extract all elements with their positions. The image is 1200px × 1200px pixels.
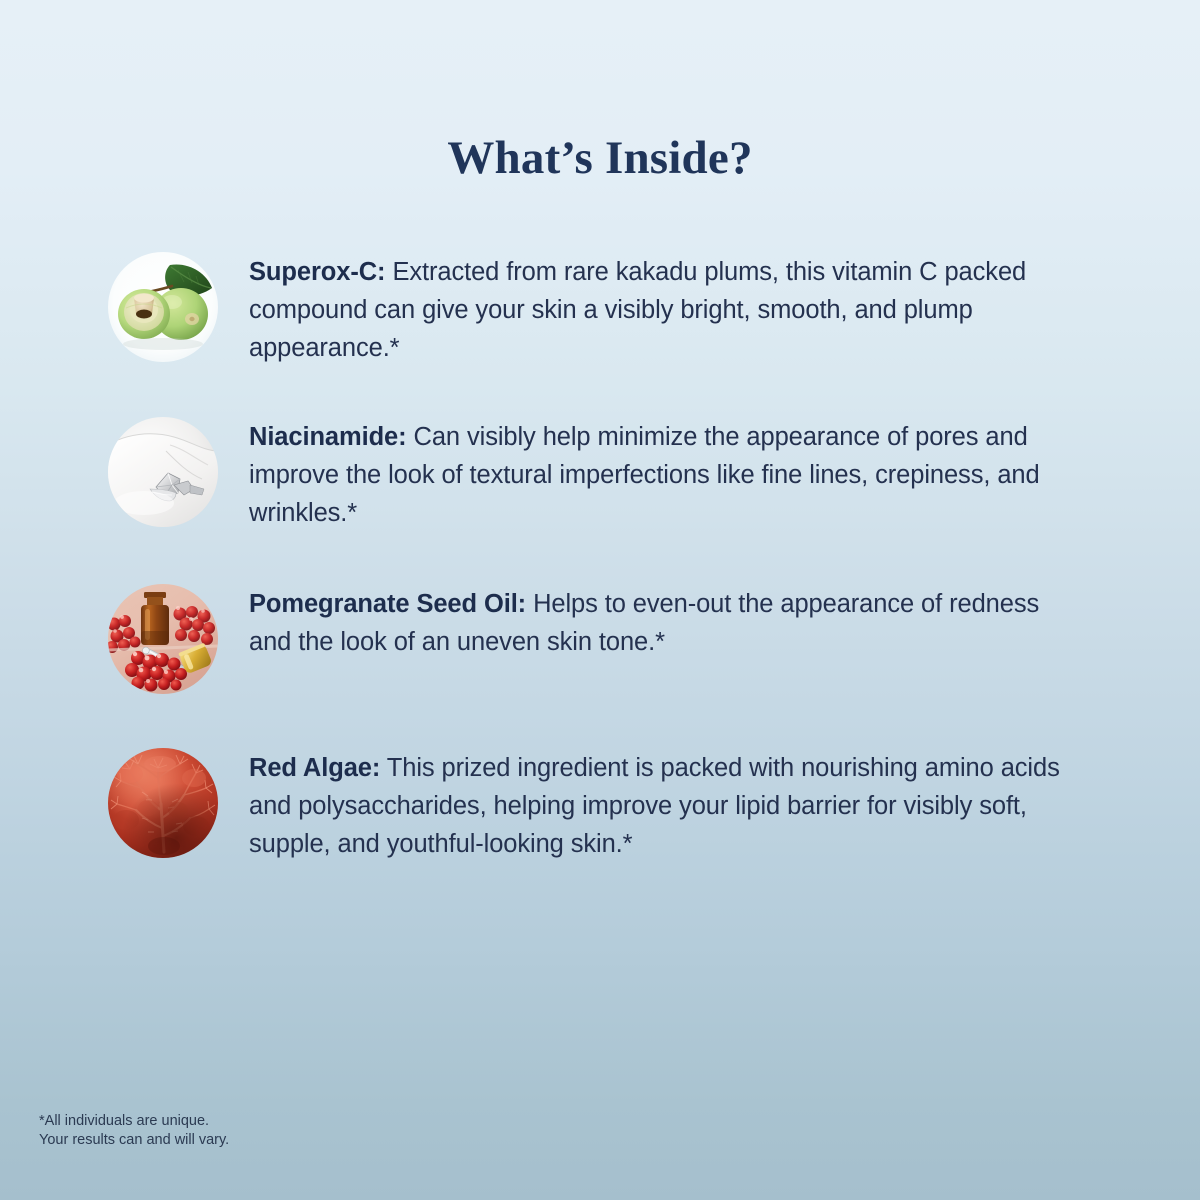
ingredient-copy: Niacinamide: Can visibly help minimize t…	[249, 417, 1074, 532]
ingredient-name: Red Algae:	[249, 754, 380, 782]
red-algae-photo-icon	[108, 748, 218, 858]
kakadu-plum-photo-icon	[108, 252, 218, 362]
footnote-line-1: *All individuals are unique.	[39, 1112, 229, 1131]
ingredient-name: Superox-C:	[249, 258, 385, 286]
ingredient-copy: Pomegranate Seed Oil: Helps to even-out …	[249, 584, 1071, 661]
ingredient-copy: Superox-C: Extracted from rare kakadu pl…	[249, 252, 1039, 367]
list-item: Superox-C: Extracted from rare kakadu pl…	[108, 252, 1118, 367]
list-item: Niacinamide: Can visibly help minimize t…	[108, 417, 1118, 532]
niacinamide-powder-photo-icon	[108, 417, 218, 527]
footnote-line-2: Your results can and will vary.	[39, 1131, 229, 1150]
pomegranate-seed-oil-photo-icon	[108, 584, 218, 694]
list-item: Pomegranate Seed Oil: Helps to even-out …	[108, 584, 1118, 661]
ingredient-copy: Red Algae: This prized ingredient is pac…	[249, 748, 1094, 863]
footnote: *All individuals are unique. Your result…	[39, 1112, 229, 1150]
page-title: What’s Inside?	[0, 131, 1200, 185]
ingredient-name: Pomegranate Seed Oil:	[249, 590, 526, 618]
ingredient-name: Niacinamide:	[249, 423, 407, 451]
list-item: Red Algae: This prized ingredient is pac…	[108, 748, 1118, 863]
